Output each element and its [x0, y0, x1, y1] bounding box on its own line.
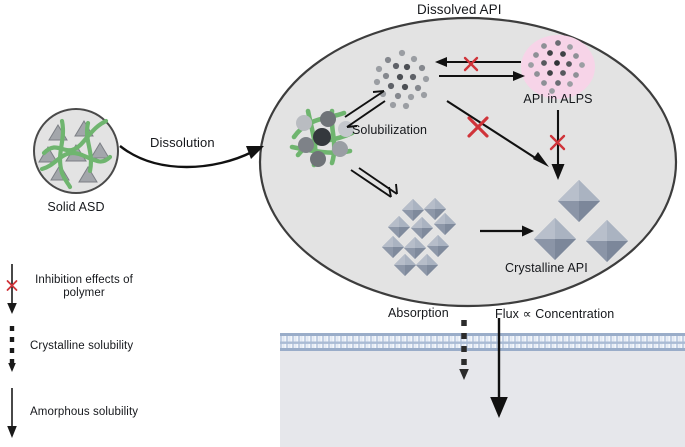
crystalline-api-aggregates — [528, 180, 648, 272]
page-title: Dissolved API — [417, 2, 502, 17]
absorption-compartment — [280, 300, 685, 447]
reverse-arrow-x-icon — [461, 55, 483, 75]
flux-solid-arrow — [485, 318, 515, 423]
api-in-alps-droplet — [520, 34, 596, 100]
crystalline-api-label: Crystalline API — [505, 261, 588, 275]
legend-amorphous-label: Amorphous solubility — [30, 406, 138, 418]
alps-crystallization-x-icon — [547, 132, 569, 154]
legend-inhibition-label-line1: Inhibition effects of — [24, 274, 144, 286]
absorption-label: Absorption — [388, 306, 449, 320]
figure-canvas: Dissolved API Absorption Flux ∝ Concentr… — [0, 0, 685, 447]
dissolution-label: Dissolution — [150, 135, 215, 150]
diagonal-crystallization-x-icon — [464, 113, 494, 143]
legend-inhibition-label-line2: polymer — [24, 287, 144, 299]
absorption-dashed-arrow — [455, 320, 479, 385]
legend-crystalline-label: Crystalline solubility — [30, 340, 133, 352]
crystal-nuclei-cluster — [380, 196, 470, 264]
solid-asd-particle — [32, 107, 120, 195]
equilibrium-arrow-upper — [339, 85, 391, 131]
legend-crystalline-dashed-arrow-icon — [4, 326, 28, 376]
solid-asd-label: Solid ASD — [36, 200, 116, 214]
diagonal-to-crystal-arrow — [443, 97, 563, 179]
legend-amorphous-arrow-icon — [4, 388, 28, 440]
